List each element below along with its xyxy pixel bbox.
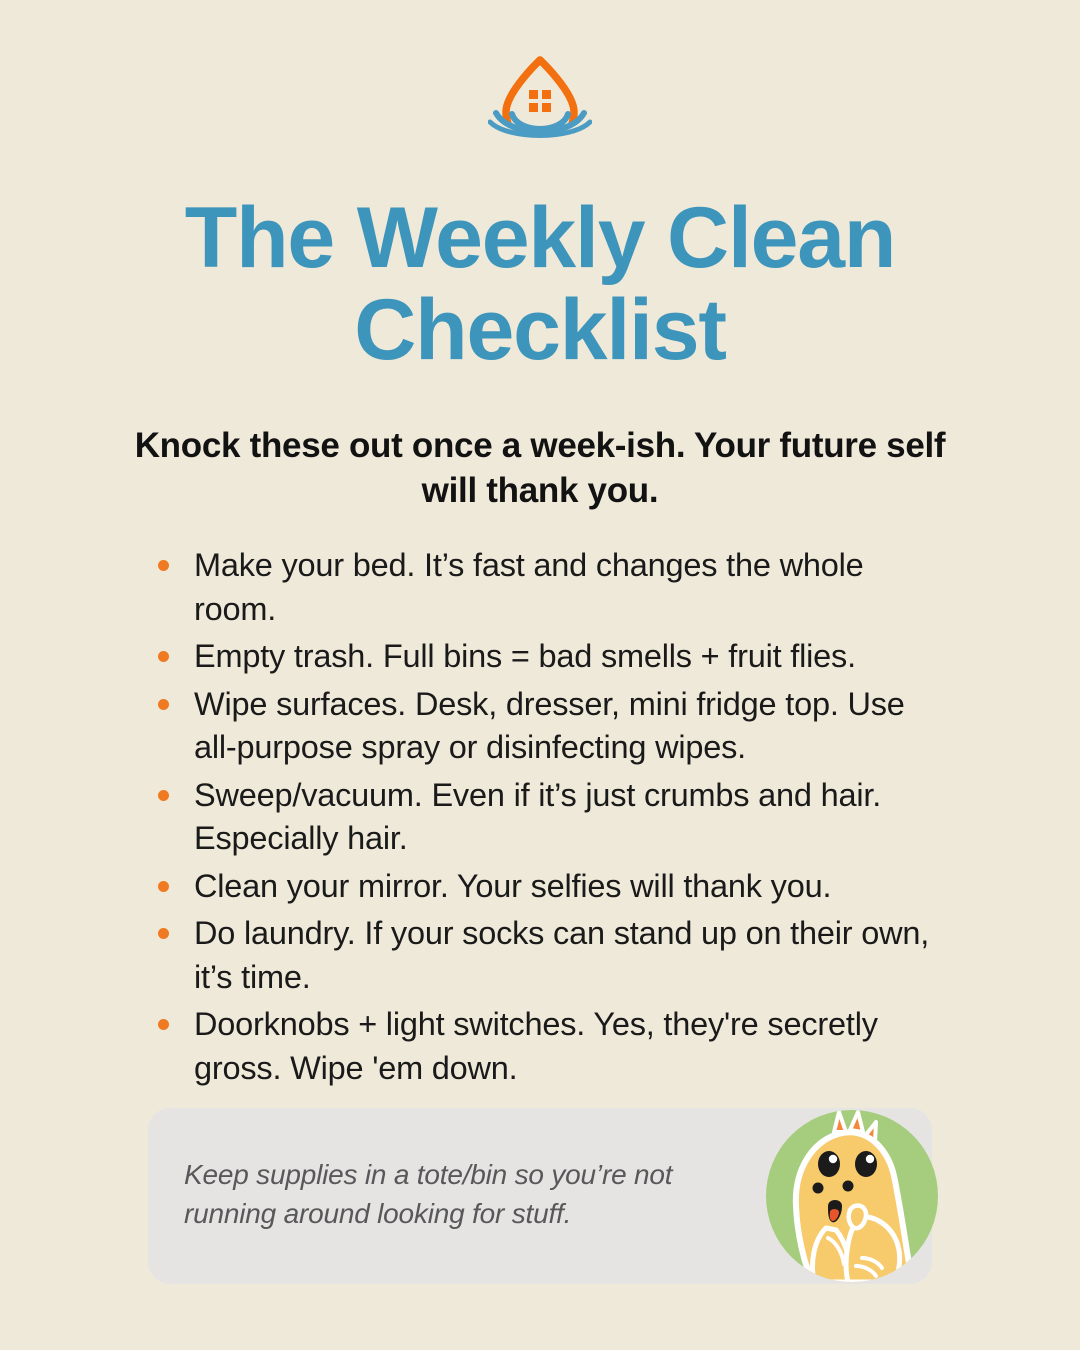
house-water-drop-logo-icon (488, 52, 592, 144)
list-item: Doorknobs + light switches. Yes, they're… (152, 1003, 952, 1090)
page-subtitle: Knock these out once a week-ish. Your fu… (110, 424, 970, 514)
list-item-label: Do laundry. If your socks can stand up o… (194, 915, 929, 995)
list-item: Make your bed. It’s fast and changes the… (152, 544, 952, 631)
list-item: Wipe surfaces. Desk, dresser, mini fridg… (152, 683, 952, 770)
list-item: Clean your mirror. Your selfies will tha… (152, 865, 952, 909)
tip-text: Keep supplies in a tote/bin so you’re no… (184, 1156, 744, 1233)
bullet-dot-icon (158, 699, 169, 710)
poster-canvas: The Weekly Clean Checklist Knock these o… (0, 0, 1080, 1350)
list-item: Sweep/vacuum. Even if it’s just crumbs a… (152, 774, 952, 861)
checklist: Make your bed. It’s fast and changes the… (152, 544, 952, 1095)
list-item: Do laundry. If your socks can stand up o… (152, 912, 952, 999)
list-item-label: Sweep/vacuum. Even if it’s just crumbs a… (194, 777, 881, 857)
list-item-label: Make your bed. It’s fast and changes the… (194, 547, 864, 627)
page-title: The Weekly Clean Checklist (70, 192, 1010, 376)
brand-logo (0, 52, 1080, 144)
bullet-dot-icon (158, 651, 169, 662)
list-item-label: Clean your mirror. Your selfies will tha… (194, 868, 831, 904)
list-item-label: Wipe surfaces. Desk, dresser, mini fridg… (194, 686, 905, 766)
list-item-label: Empty trash. Full bins = bad smells + fr… (194, 638, 856, 674)
dinosaur-mascot-avatar-icon (766, 1106, 938, 1286)
bullet-dot-icon (158, 790, 169, 801)
bullet-dot-icon (158, 560, 169, 571)
bullet-dot-icon (158, 928, 169, 939)
bullet-dot-icon (158, 881, 169, 892)
bullet-dot-icon (158, 1019, 169, 1030)
list-item: Empty trash. Full bins = bad smells + fr… (152, 635, 952, 679)
list-item-label: Doorknobs + light switches. Yes, they're… (194, 1006, 878, 1086)
